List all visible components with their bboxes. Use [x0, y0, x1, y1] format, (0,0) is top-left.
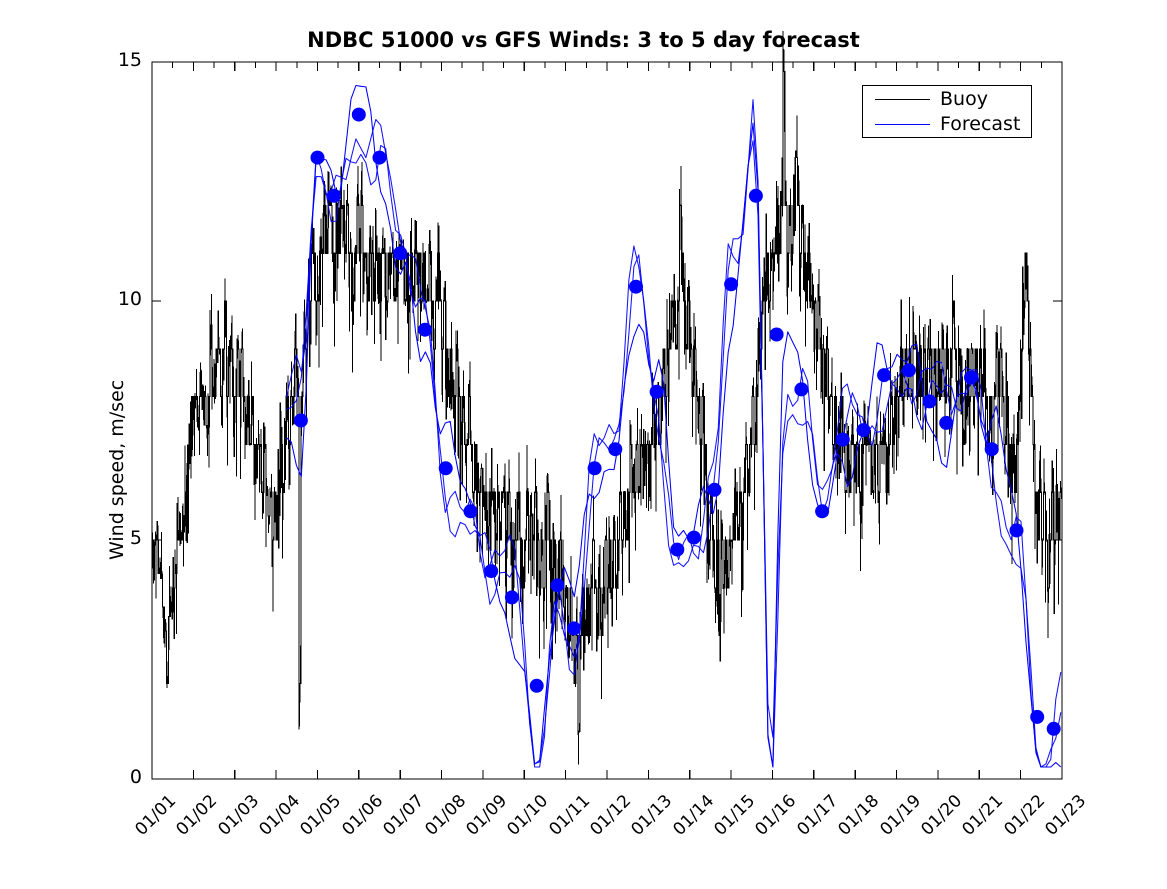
forecast-marker: [567, 621, 581, 635]
figure-canvas: NDBC 51000 vs GFS Winds: 3 to 5 day fore…: [0, 0, 1167, 875]
legend-label-forecast: Forecast: [940, 115, 1020, 134]
legend[interactable]: Buoy Forecast: [862, 85, 1032, 138]
forecast-marker: [670, 543, 684, 557]
forecast-marker: [588, 461, 602, 475]
forecast-marker: [836, 433, 850, 447]
legend-entry-forecast: Forecast: [863, 111, 1033, 137]
forecast-marker: [608, 442, 622, 456]
forecast-marker: [939, 416, 953, 430]
forecast-marker: [687, 531, 701, 545]
legend-label-buoy: Buoy: [940, 90, 988, 109]
forecast-marker: [352, 108, 366, 122]
forecast-marker: [749, 189, 763, 203]
forecast-marker: [815, 504, 829, 518]
forecast-marker: [550, 578, 564, 592]
forecast-marker: [311, 151, 325, 165]
forecast-marker: [484, 564, 498, 578]
forecast-marker: [393, 246, 407, 260]
forecast-marker: [1010, 523, 1024, 537]
forecast-marker: [650, 385, 664, 399]
forecast-marker: [923, 394, 937, 408]
forecast-marker: [373, 151, 387, 165]
forecast-marker: [877, 368, 891, 382]
forecast-marker: [530, 679, 544, 693]
forecast-marker: [1030, 710, 1044, 724]
forecast-marker: [794, 382, 808, 396]
forecast-marker: [902, 363, 916, 377]
forecast-marker: [708, 483, 722, 497]
y-tick-label: 5: [86, 527, 142, 549]
legend-entry-buoy: Buoy: [863, 86, 1033, 112]
y-tick-label: 10: [86, 288, 142, 310]
forecast-marker: [439, 461, 453, 475]
legend-swatch-forecast: [875, 124, 930, 125]
forecast-marker: [770, 328, 784, 342]
forecast-marker: [418, 323, 432, 337]
forecast-marker: [985, 442, 999, 456]
forecast-marker: [1047, 722, 1061, 736]
legend-swatch-buoy: [875, 99, 930, 100]
y-tick-label: 0: [86, 766, 142, 788]
forecast-marker: [724, 277, 738, 291]
y-tick-label: 15: [86, 49, 142, 71]
forecast-marker: [505, 590, 519, 604]
forecast-marker: [327, 189, 341, 203]
forecast-marker: [964, 371, 978, 385]
forecast-marker: [464, 504, 478, 518]
forecast-marker: [857, 423, 871, 437]
forecast-marker: [629, 280, 643, 294]
forecast-marker: [294, 414, 308, 428]
